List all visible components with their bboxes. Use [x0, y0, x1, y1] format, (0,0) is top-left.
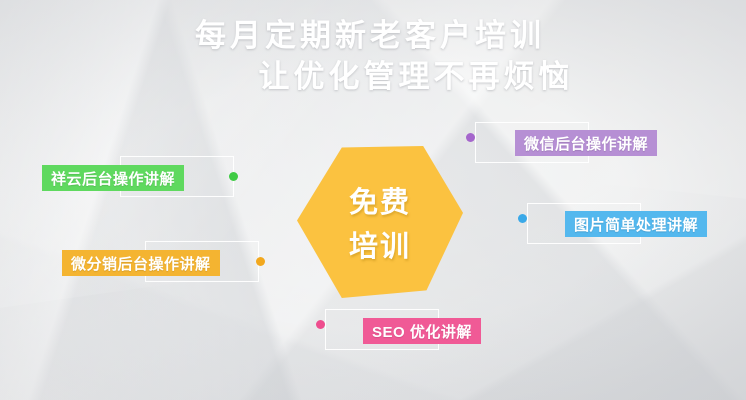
page-title-line-1: 每月定期新老客户培训: [0, 16, 746, 57]
topic-label[interactable]: 微信后台操作讲解: [515, 130, 657, 156]
topic-connector-dot: [256, 257, 265, 266]
page-title-line-2: 让优化管理不再烦恼: [0, 57, 746, 98]
hexagon-label-line-1: 免费: [349, 179, 411, 221]
hexagon-label: 免费 培训: [297, 146, 463, 298]
topic-label[interactable]: 微分销后台操作讲解: [62, 250, 220, 276]
topic-label[interactable]: SEO 优化讲解: [363, 318, 481, 344]
center-hexagon: 免费 培训: [297, 146, 463, 298]
poster-canvas: 每月定期新老客户培训 让优化管理不再烦恼 免费 培训 祥云后台操作讲解 微分销后…: [0, 0, 746, 400]
page-title: 每月定期新老客户培训 让优化管理不再烦恼: [0, 16, 746, 98]
topic-connector-dot: [229, 172, 238, 181]
topic-connector-dot: [518, 214, 527, 223]
topic-label[interactable]: 图片简单处理讲解: [565, 211, 707, 237]
topic-connector-dot: [316, 320, 325, 329]
topic-connector-dot: [466, 133, 475, 142]
hexagon-label-line-2: 培训: [349, 223, 411, 265]
topic-label[interactable]: 祥云后台操作讲解: [42, 165, 184, 191]
